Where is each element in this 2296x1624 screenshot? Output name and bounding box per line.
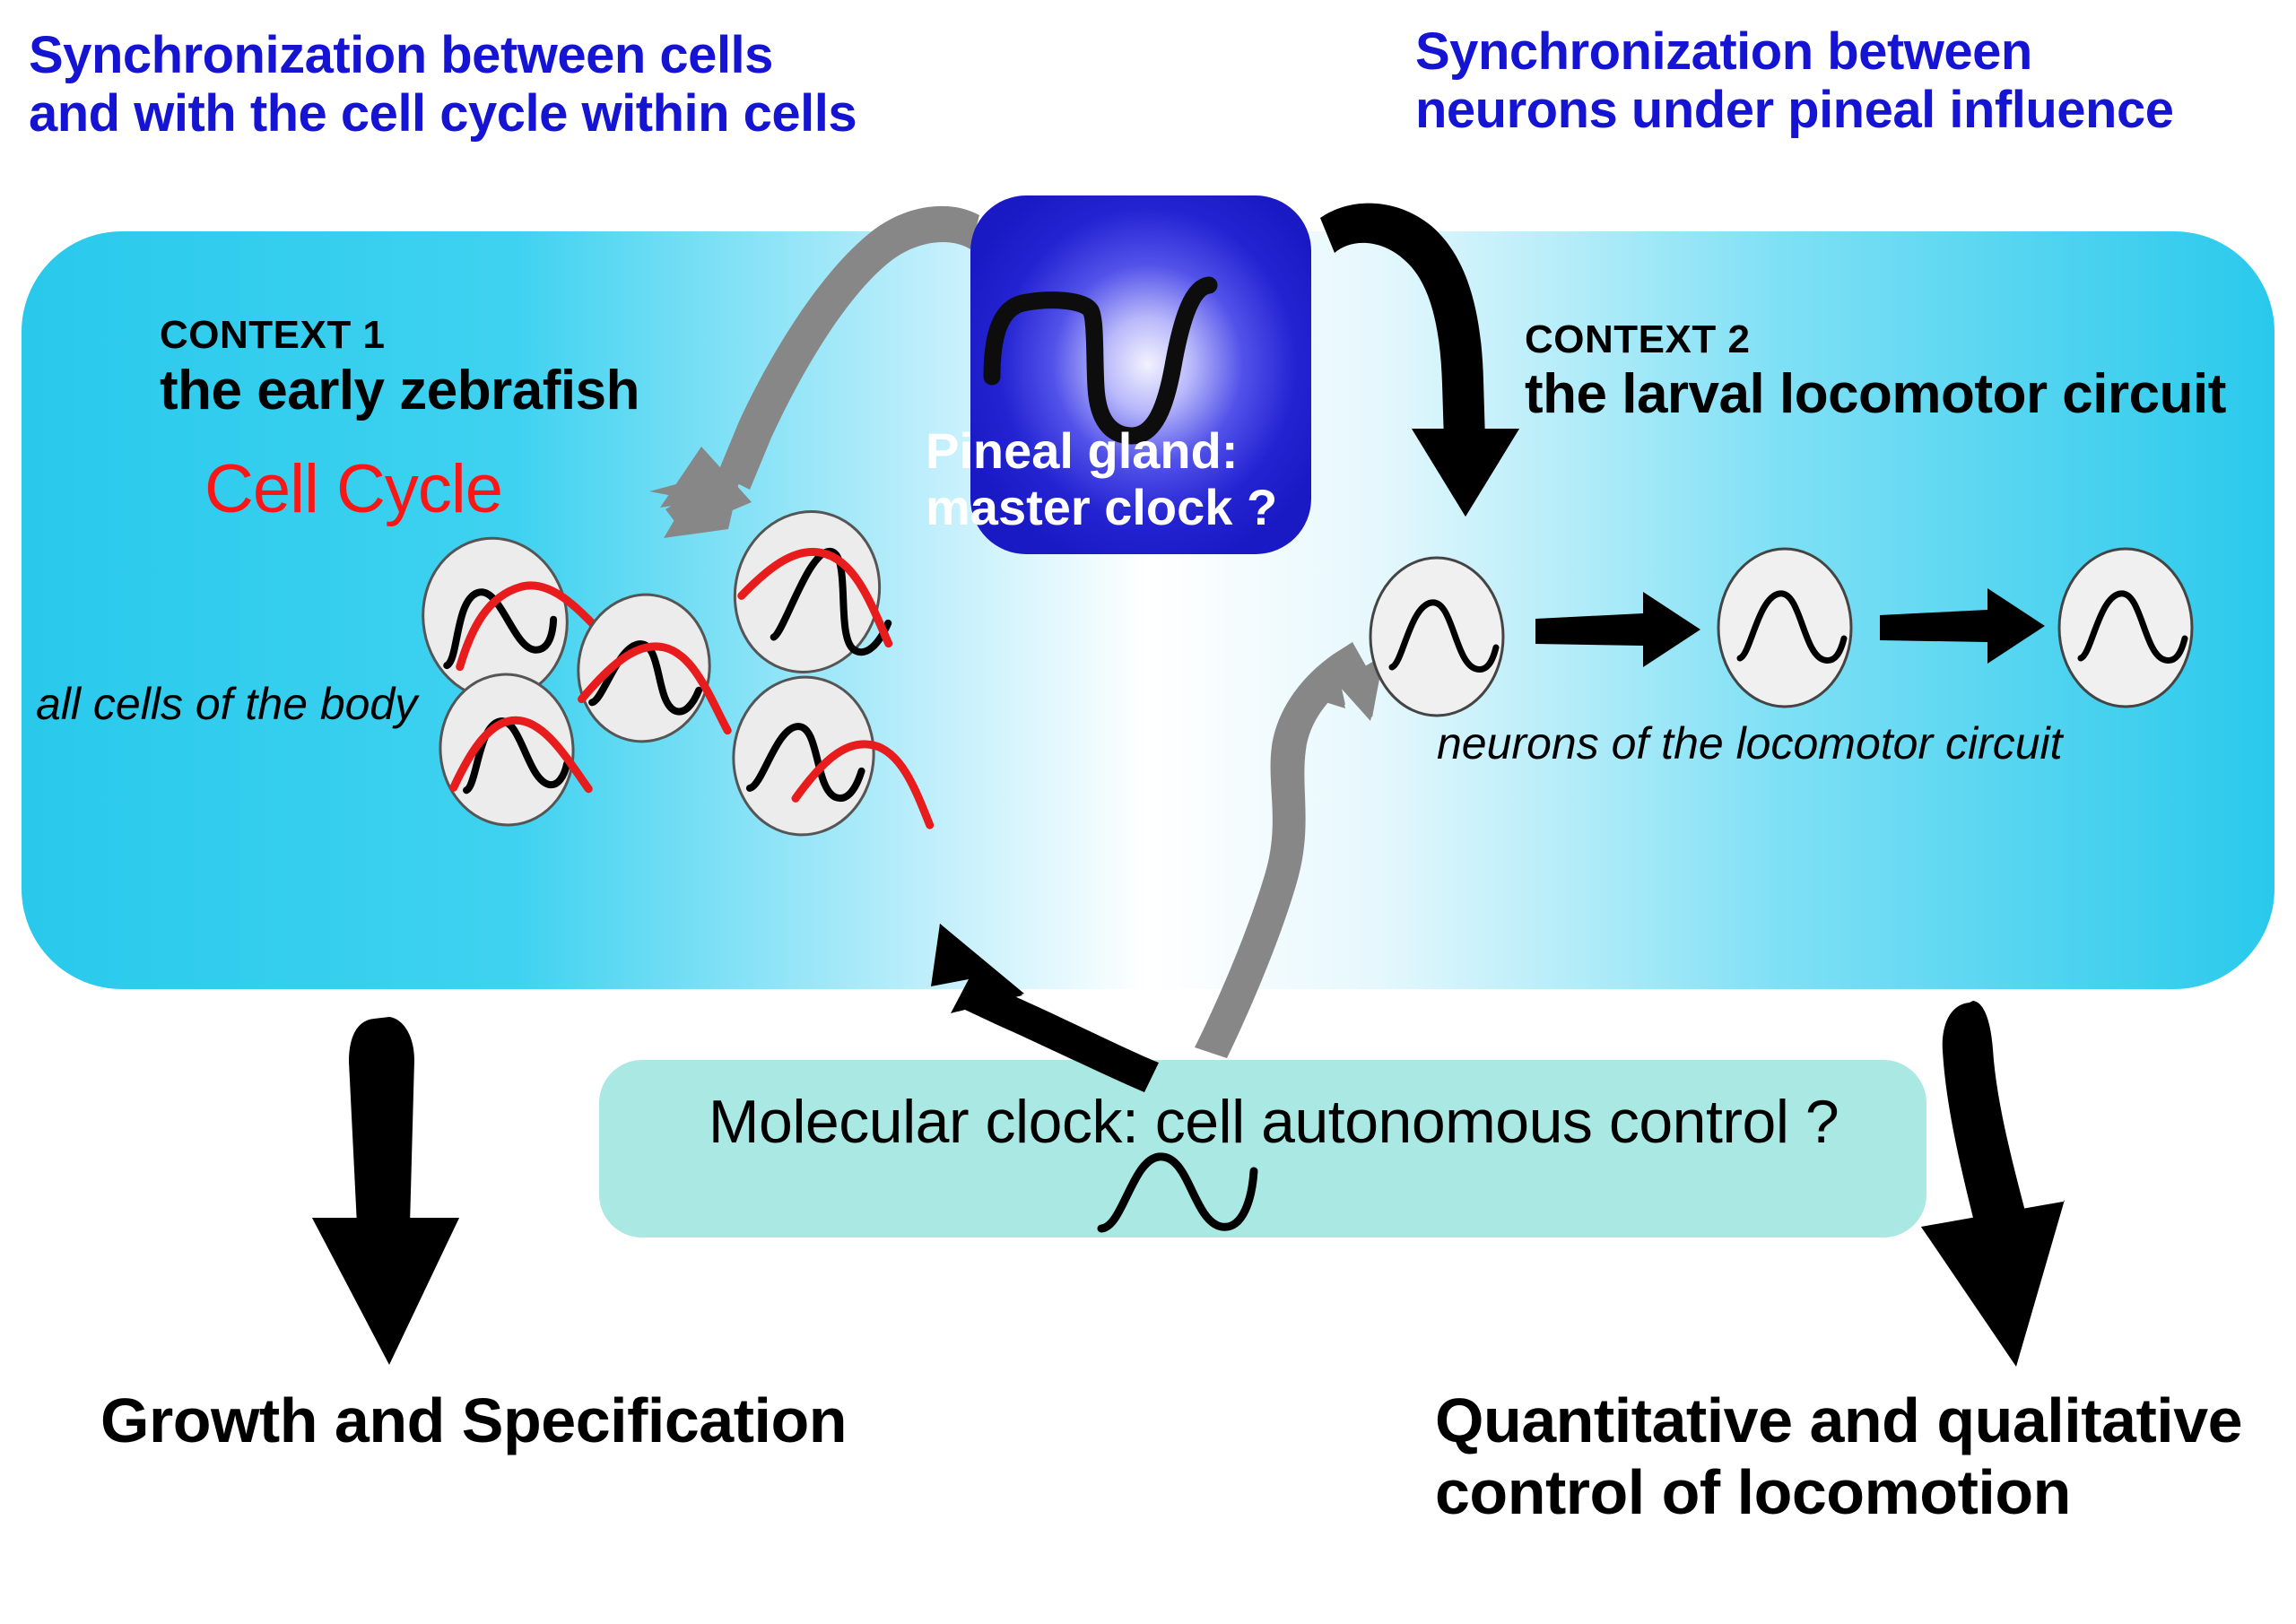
neuron-2 <box>1718 549 1851 707</box>
context2-title: the larval locomotor circuit <box>1525 362 2226 426</box>
outcome-right-label: Quantitative and qualitative control of … <box>1435 1385 2242 1529</box>
outcome-left-label: Growth and Specification <box>100 1385 847 1457</box>
context1-eyebrow: CONTEXT 1 <box>160 313 385 358</box>
heading-right: Synchronization between neurons under pi… <box>1415 23 2173 140</box>
diagram-canvas: Synchronization between cells and with t… <box>0 0 2296 1624</box>
pineal-gland-label: Pineal gland: master clock ? <box>926 423 1392 535</box>
arrow-context2-to-outcome <box>1921 1001 2065 1367</box>
neurons-caption: neurons of the locomotor circuit <box>1437 717 2063 769</box>
context2-eyebrow: CONTEXT 2 <box>1525 317 1750 362</box>
all-cells-caption: all cells of the body <box>36 678 417 730</box>
neuron-1 <box>1370 558 1503 716</box>
context1-title: the early zebrafish <box>160 359 639 422</box>
cell-cycle-label: Cell Cycle <box>204 450 502 528</box>
diagram-graphics <box>0 0 2296 1624</box>
arrow-context1-to-outcome <box>312 1017 459 1365</box>
neuron-3 <box>2059 549 2192 707</box>
heading-left: Synchronization between cells and with t… <box>29 27 857 143</box>
molecular-clock-label: Molecular clock: cell autonomous control… <box>664 1087 1883 1157</box>
